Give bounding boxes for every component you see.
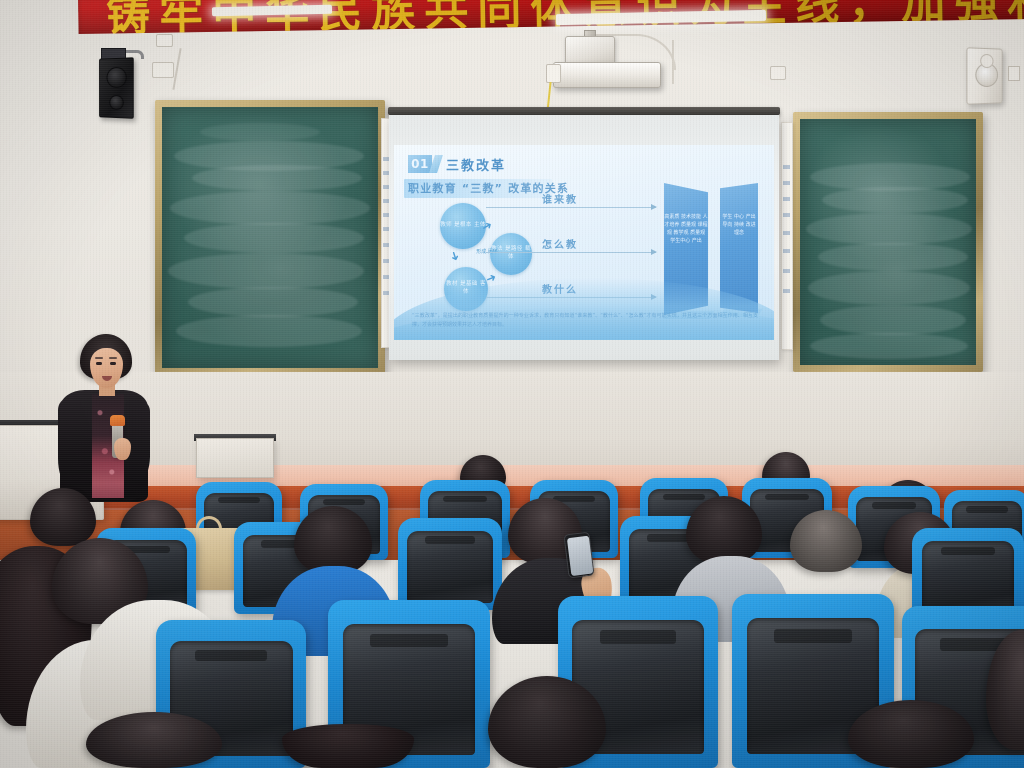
podium [196, 438, 274, 478]
phone-screen [567, 536, 593, 576]
smartphone[interactable] [563, 532, 594, 579]
presenter-hand [114, 438, 131, 460]
presenter-eye [110, 362, 116, 365]
speaker-tweeter [109, 95, 123, 110]
projector-cable [672, 40, 674, 84]
speaker-cone [107, 67, 127, 88]
projected-slide: 01 三教改革 职业教育 “三教” 改革的关系 教师 是根本 主体 教法 是路径… [394, 145, 774, 340]
power-outlet[interactable] [546, 64, 561, 83]
microphone-windscreen-icon [110, 415, 125, 426]
slide-section-title: 三教改革 [446, 155, 506, 174]
green-chalkboard-right [793, 112, 983, 372]
slide-circle-teacher: 教师 是根本 主体 [440, 203, 486, 249]
presenter-eyebrow [95, 357, 103, 359]
screen-roller-bar [388, 107, 780, 115]
slide-arrow-1 [486, 207, 656, 208]
slide-arrow-label-2: 怎么教 [542, 236, 578, 251]
wall-speaker-black [99, 57, 134, 119]
student-head [30, 488, 96, 546]
presenter-eyebrow [109, 357, 117, 359]
chalkboard-surface [800, 119, 976, 365]
pull-down-projection-screen: 01 三教改革 职业教育 “三教” 改革的关系 教师 是根本 主体 教法 是路径… [389, 115, 779, 360]
wall-junction-box[interactable] [152, 62, 174, 78]
student-head [86, 712, 222, 768]
slide-section-number: 01 [408, 155, 432, 173]
student-head [282, 724, 414, 768]
slide-footnote: “三教改革”，是提出的职业教育质量提升的一种专业诉求，教育只有知道“谁来教”、“… [412, 312, 758, 331]
slide-arrow-label-1: 谁来教 [542, 191, 578, 206]
student-head [790, 510, 862, 572]
ceiling-projector [553, 62, 661, 88]
wall-speaker-white [966, 47, 1002, 105]
wall-switch-plate[interactable] [770, 66, 786, 80]
slide-arrow-2 [486, 252, 656, 253]
chalkboard-surface [162, 107, 378, 368]
presenter-eye [96, 362, 102, 365]
wall-outlet-plate[interactable] [1008, 66, 1020, 81]
wall-outlet-plate[interactable] [156, 34, 173, 47]
auditorium-seat[interactable] [398, 518, 502, 610]
side-notice-strip-right [781, 122, 793, 350]
classroom-photo: 铸牢中华民族共同体意识为主线，加强和改 [0, 0, 1024, 768]
curved-arrow-icon: ➜ [447, 249, 463, 263]
green-chalkboard-left [155, 100, 385, 375]
